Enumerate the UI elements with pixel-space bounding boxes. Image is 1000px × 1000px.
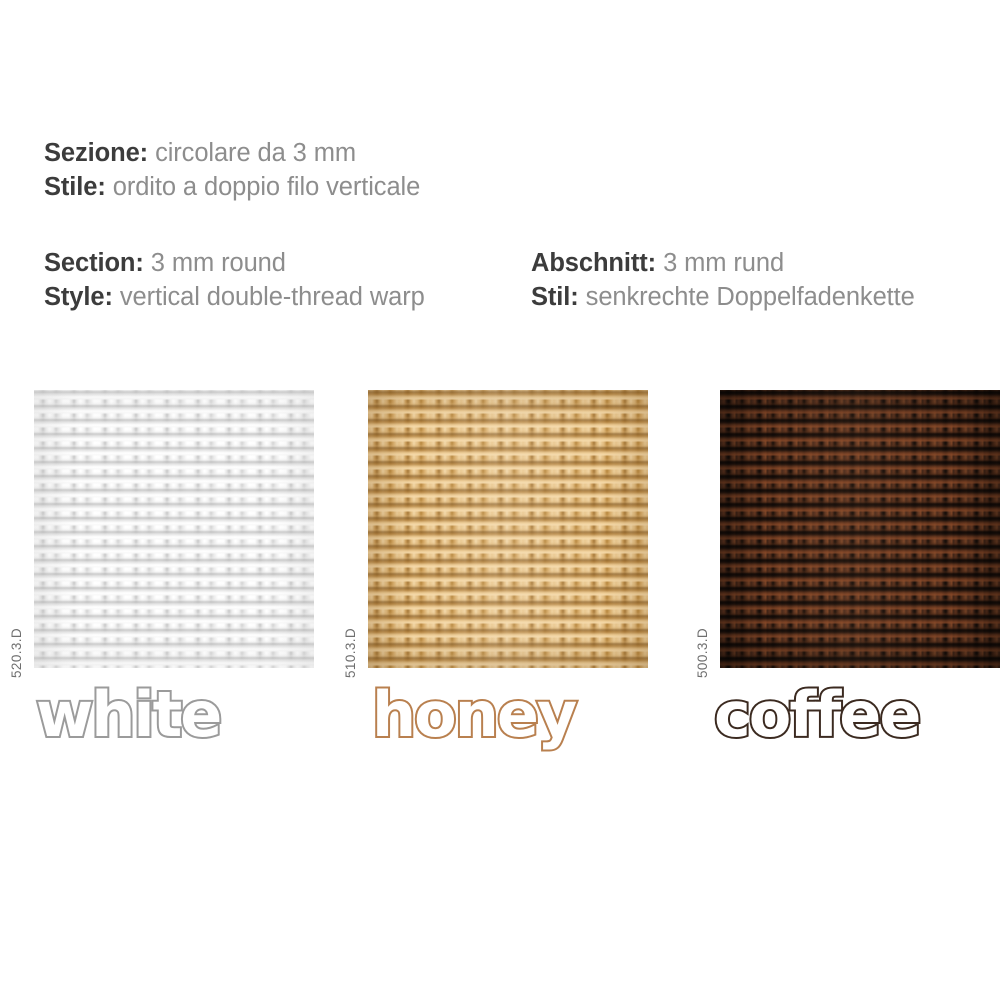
spec-label: Stil:: [531, 283, 579, 311]
color-label-white-text: white: [36, 678, 220, 751]
spec-label: Sezione:: [44, 139, 148, 167]
color-label-white-svg: white: [34, 682, 334, 752]
color-label-white: white: [34, 682, 334, 752]
spec-label: Style:: [44, 283, 113, 311]
spec-line: Stil: senkrechte Doppelfadenkette: [531, 280, 915, 314]
swatch-coffee[interactable]: [720, 390, 1000, 668]
spec-value: circolare da 3 mm: [155, 139, 356, 167]
color-label-coffee-text: coffee: [714, 678, 919, 751]
weave-texture-honey: [368, 390, 648, 668]
spec-block-english: Section: 3 mm round Style: vertical doub…: [44, 246, 425, 314]
spec-value: 3 mm rund: [663, 249, 784, 277]
swatch-honey[interactable]: [368, 390, 648, 668]
spec-value: vertical double-thread warp: [120, 283, 425, 311]
color-label-coffee-svg: coffee: [712, 682, 1000, 752]
spec-value: senkrechte Doppelfadenkette: [586, 283, 915, 311]
spec-block-italian: Sezione: circolare da 3 mm Stile: ordito…: [44, 136, 420, 204]
swatch-white[interactable]: [34, 390, 314, 668]
weft-threads: [720, 390, 1000, 668]
article-code-honey: 510.3.D: [343, 628, 358, 678]
article-code-white: 520.3.D: [9, 628, 24, 678]
spec-label: Stile:: [44, 173, 106, 201]
color-label-honey-svg: honey: [370, 682, 670, 752]
weave-texture-coffee: [720, 390, 1000, 668]
color-label-honey-text: honey: [372, 678, 577, 751]
weft-threads: [34, 390, 314, 668]
color-label-coffee: coffee: [712, 682, 1000, 752]
spec-line: Sezione: circolare da 3 mm: [44, 136, 420, 170]
spec-value: ordito a doppio filo verticale: [113, 173, 420, 201]
spec-line: Style: vertical double-thread warp: [44, 280, 425, 314]
spec-line: Stile: ordito a doppio filo verticale: [44, 170, 420, 204]
spec-label: Section:: [44, 249, 144, 277]
spec-block-german: Abschnitt: 3 mm rund Stil: senkrechte Do…: [531, 246, 915, 314]
color-label-honey: honey: [370, 682, 670, 752]
article-code-coffee: 500.3.D: [695, 628, 710, 678]
weave-texture-white: [34, 390, 314, 668]
spec-label: Abschnitt:: [531, 249, 656, 277]
spec-line: Section: 3 mm round: [44, 246, 425, 280]
weft-threads: [368, 390, 648, 668]
spec-line: Abschnitt: 3 mm rund: [531, 246, 915, 280]
spec-value: 3 mm round: [151, 249, 286, 277]
